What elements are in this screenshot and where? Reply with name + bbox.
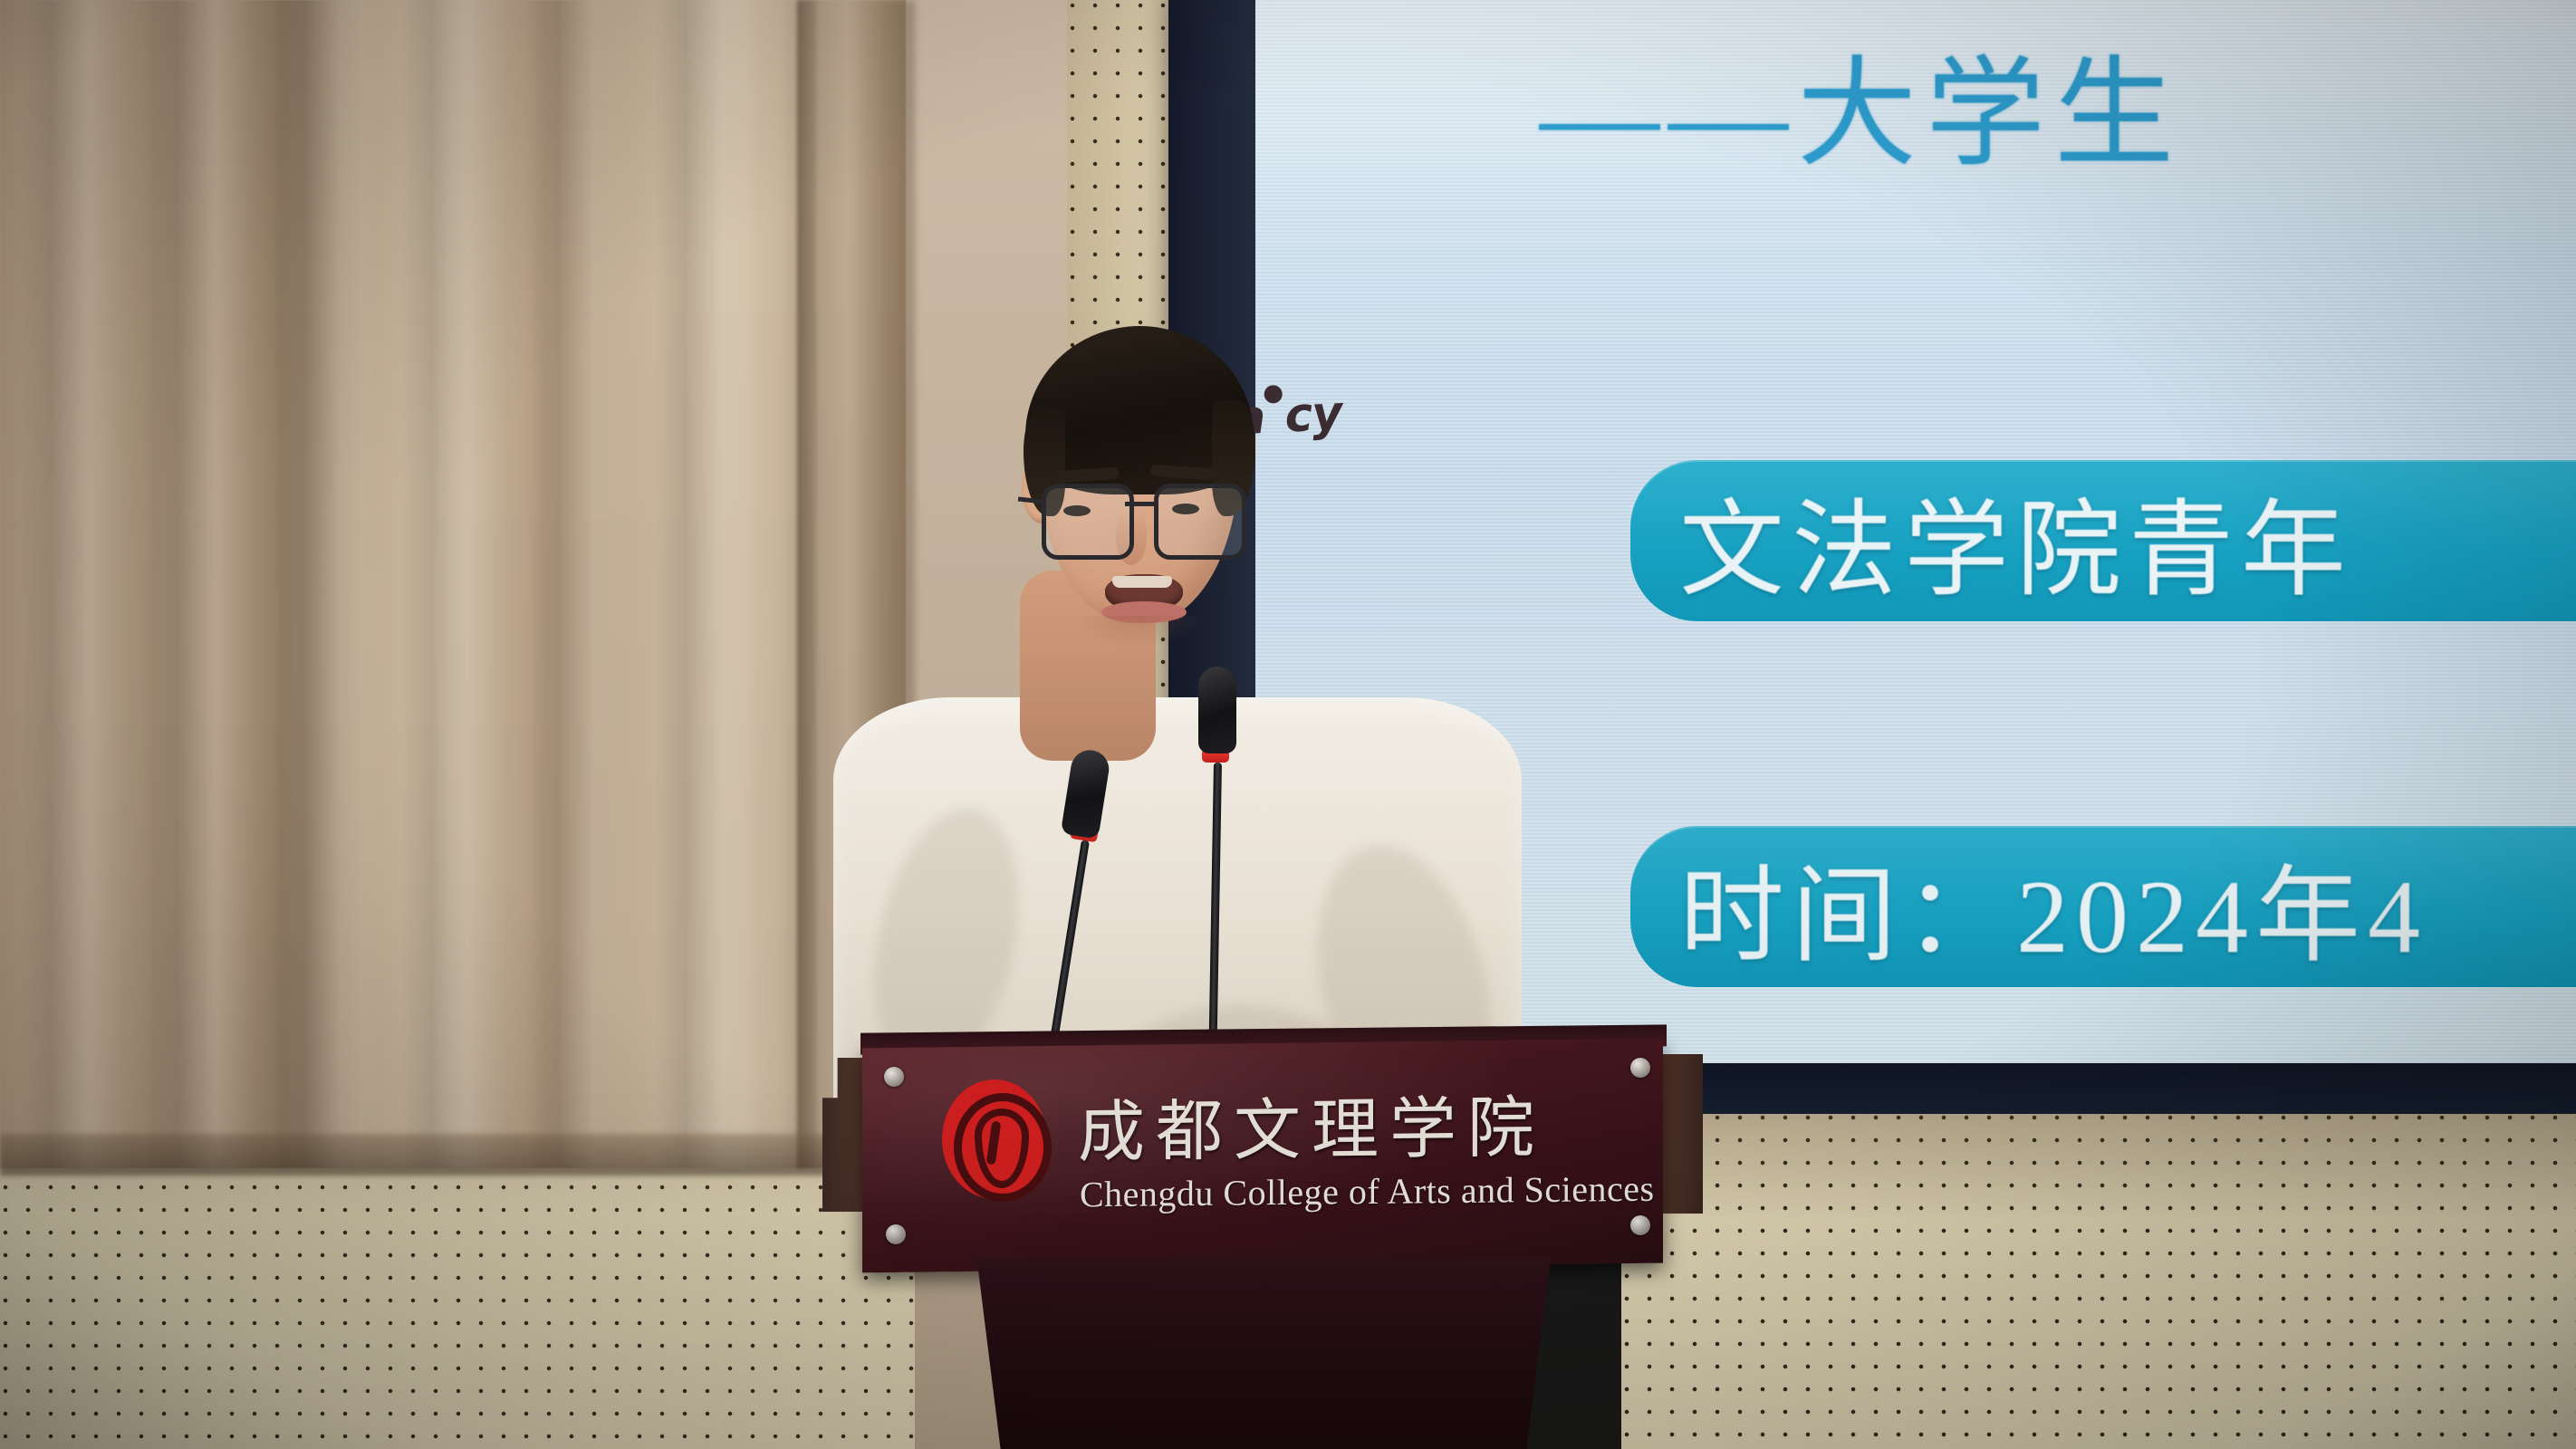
- mounting-screw: [1630, 1058, 1650, 1078]
- teeth: [1112, 576, 1172, 588]
- slide-datetime-pill: 时间：2024年4: [1630, 826, 2576, 987]
- mounting-screw: [886, 1224, 906, 1244]
- curtain-hem: [0, 1134, 906, 1176]
- slide-datetime-text: 时间：2024年4: [1630, 830, 2427, 983]
- stage-curtain: [0, 0, 906, 1168]
- lectern-plaque-english-name: Chengdu College of Arts and Sciences: [1080, 1167, 1655, 1216]
- glasses-bridge: [1125, 502, 1156, 506]
- glasses-lens-left: [1042, 484, 1134, 560]
- conference-photo-scene: ——大学生 文法学院青年 时间：2024年4 Jacy: [0, 0, 2576, 1449]
- lectern-plaque-chinese-name: 成都文理学院: [1078, 1073, 1545, 1175]
- slide-subtitle-line: ——大学生: [1540, 53, 2183, 178]
- glasses-lens-right: [1154, 484, 1246, 560]
- acoustic-panel-right: [1621, 1112, 2576, 1449]
- smiley-icon: [1264, 384, 1283, 403]
- lectern-column: [965, 1257, 1562, 1449]
- university-seal-icon: [942, 1080, 1047, 1199]
- curtain-fold-gap: [797, 0, 817, 1168]
- glasses-icon: [1038, 480, 1246, 556]
- slide-organizer-pill: 文法学院青年: [1630, 460, 2576, 621]
- slide-organizer-text: 文法学院青年: [1630, 465, 2353, 617]
- mounting-screw: [884, 1067, 904, 1087]
- chin-shadow: [1074, 616, 1201, 648]
- microphone-windscreen: [1198, 667, 1236, 753]
- lectern-side-right: [1659, 1054, 1703, 1214]
- mounting-screw: [1630, 1215, 1650, 1235]
